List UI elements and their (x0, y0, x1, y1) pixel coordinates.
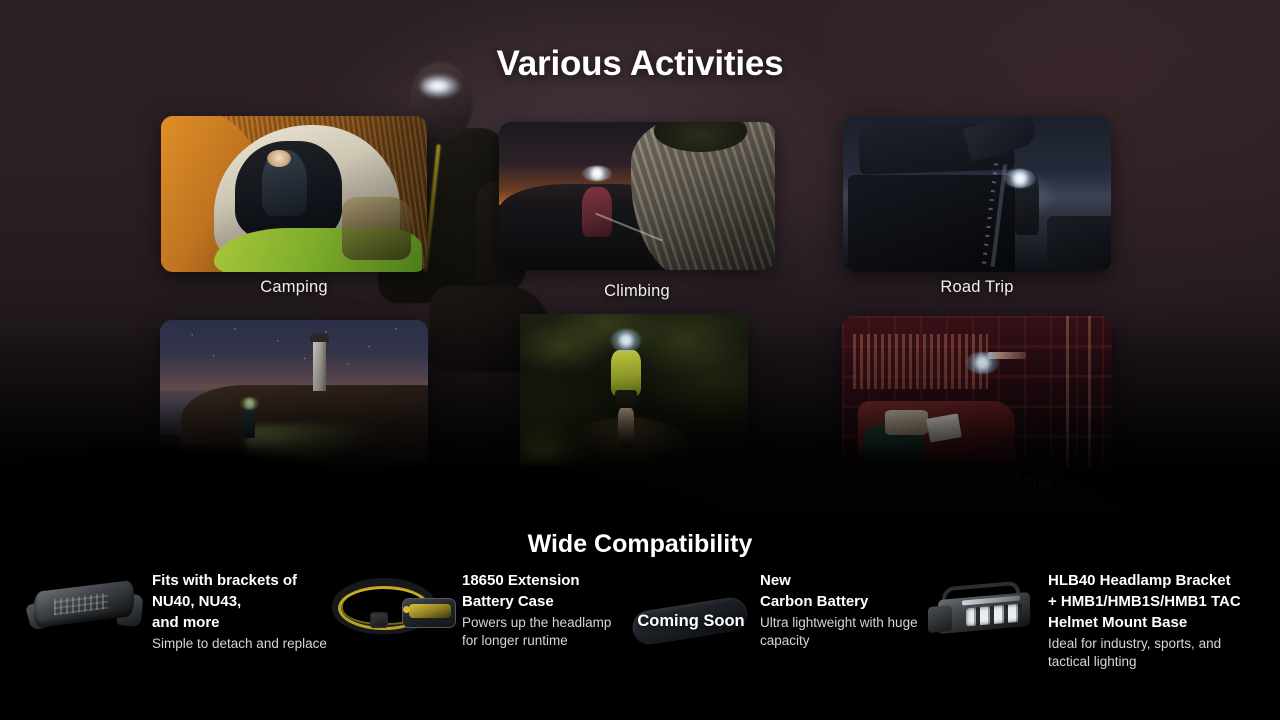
headlamp-buckle (370, 612, 388, 628)
feature-item-hlb40[interactable]: HLB40 Headlamp Bracket + HMB1/HMB1S/HMB1… (928, 570, 1264, 710)
feature-subtitle-battery-case: Powers up the headlamp for longer runtim… (462, 614, 626, 650)
caption-camping: Camping (161, 278, 427, 297)
feature-item-battery-case[interactable]: 18650 Extension Battery Case Powers up t… (330, 570, 620, 710)
feature-text-carbon-battery: New Carbon Battery Ultra lightweight wit… (760, 570, 930, 650)
hlb40-headlamp-icon (928, 578, 1040, 644)
feature-list: Fits with brackets of NU40, NU43, and mo… (0, 570, 1280, 710)
feature-item-bracket[interactable]: Fits with brackets of NU40, NU43, and mo… (24, 570, 324, 710)
camping-photo (161, 116, 427, 272)
carbon-battery-icon: Coming Soon (630, 592, 752, 652)
activities-title: Various Activities (0, 44, 1280, 84)
camping-scene (161, 116, 427, 272)
road-trip-photo (843, 116, 1111, 272)
headlamp-button (403, 606, 410, 613)
feature-title-line-2: NU40, NU43, (152, 591, 332, 612)
camp-chair (342, 197, 411, 259)
road-trip-scene (843, 116, 1111, 272)
activity-tile-climbing[interactable]: Climbing (499, 122, 775, 270)
activities-section: Various Activities Camping (0, 0, 1280, 512)
marketing-page: Various Activities Camping (0, 0, 1280, 720)
caption-climbing: Climbing (499, 282, 775, 301)
compatibility-title: Wide Compatibility (0, 530, 1280, 559)
feature-title-line-1: HLB40 Headlamp Bracket (1048, 570, 1264, 591)
hlb-mount-block (928, 605, 952, 633)
second-vehicle (1047, 216, 1111, 269)
feature-subtitle-bracket: Simple to detach and replace (152, 635, 332, 653)
feature-title-line-1: New (760, 570, 930, 591)
feature-item-carbon-battery[interactable]: Coming Soon New Carbon Battery Ultra lig… (630, 570, 930, 710)
feature-title-line-2: Carbon Battery (760, 591, 930, 612)
activity-tile-road-trip[interactable]: Road Trip (843, 116, 1111, 272)
climbing-scene (499, 122, 775, 270)
headlamp-bracket-icon (24, 572, 144, 640)
feature-title-line-2: Battery Case (462, 591, 626, 612)
feature-title-line-2: + HMB1/HMB1S/HMB1 TAC (1048, 591, 1264, 612)
compatibility-section: Wide Compatibility Fits with brackets of… (0, 512, 1280, 720)
climbing-photo (499, 122, 775, 270)
feature-title-line-3: Helmet Mount Base (1048, 612, 1264, 633)
headlamp-lens (409, 604, 451, 618)
activity-tile-camping[interactable]: Camping (161, 116, 427, 272)
feature-text-hlb40: HLB40 Headlamp Bracket + HMB1/HMB1S/HMB1… (1048, 570, 1264, 671)
feature-text-battery-case: 18650 Extension Battery Case Powers up t… (462, 570, 626, 650)
feature-subtitle-carbon-battery: Ultra lightweight with huge capacity (760, 614, 930, 650)
coming-soon-badge: Coming Soon (630, 612, 752, 631)
headlamp-with-strap-icon (330, 572, 456, 644)
feature-title-line-1: Fits with brackets of (152, 570, 332, 591)
feature-title-line-3: and more (152, 612, 332, 633)
caption-road-trip: Road Trip (843, 278, 1111, 297)
headlamp-glow-icon (1004, 169, 1036, 188)
feature-title-line-1: 18650 Extension (462, 570, 626, 591)
feature-subtitle-hlb40: Ideal for industry, sports, and tactical… (1048, 635, 1264, 671)
ground-silhouette-left (0, 392, 450, 512)
feature-text-bracket: Fits with brackets of NU40, NU43, and mo… (152, 570, 332, 653)
headlamp-glow-icon (582, 166, 612, 181)
